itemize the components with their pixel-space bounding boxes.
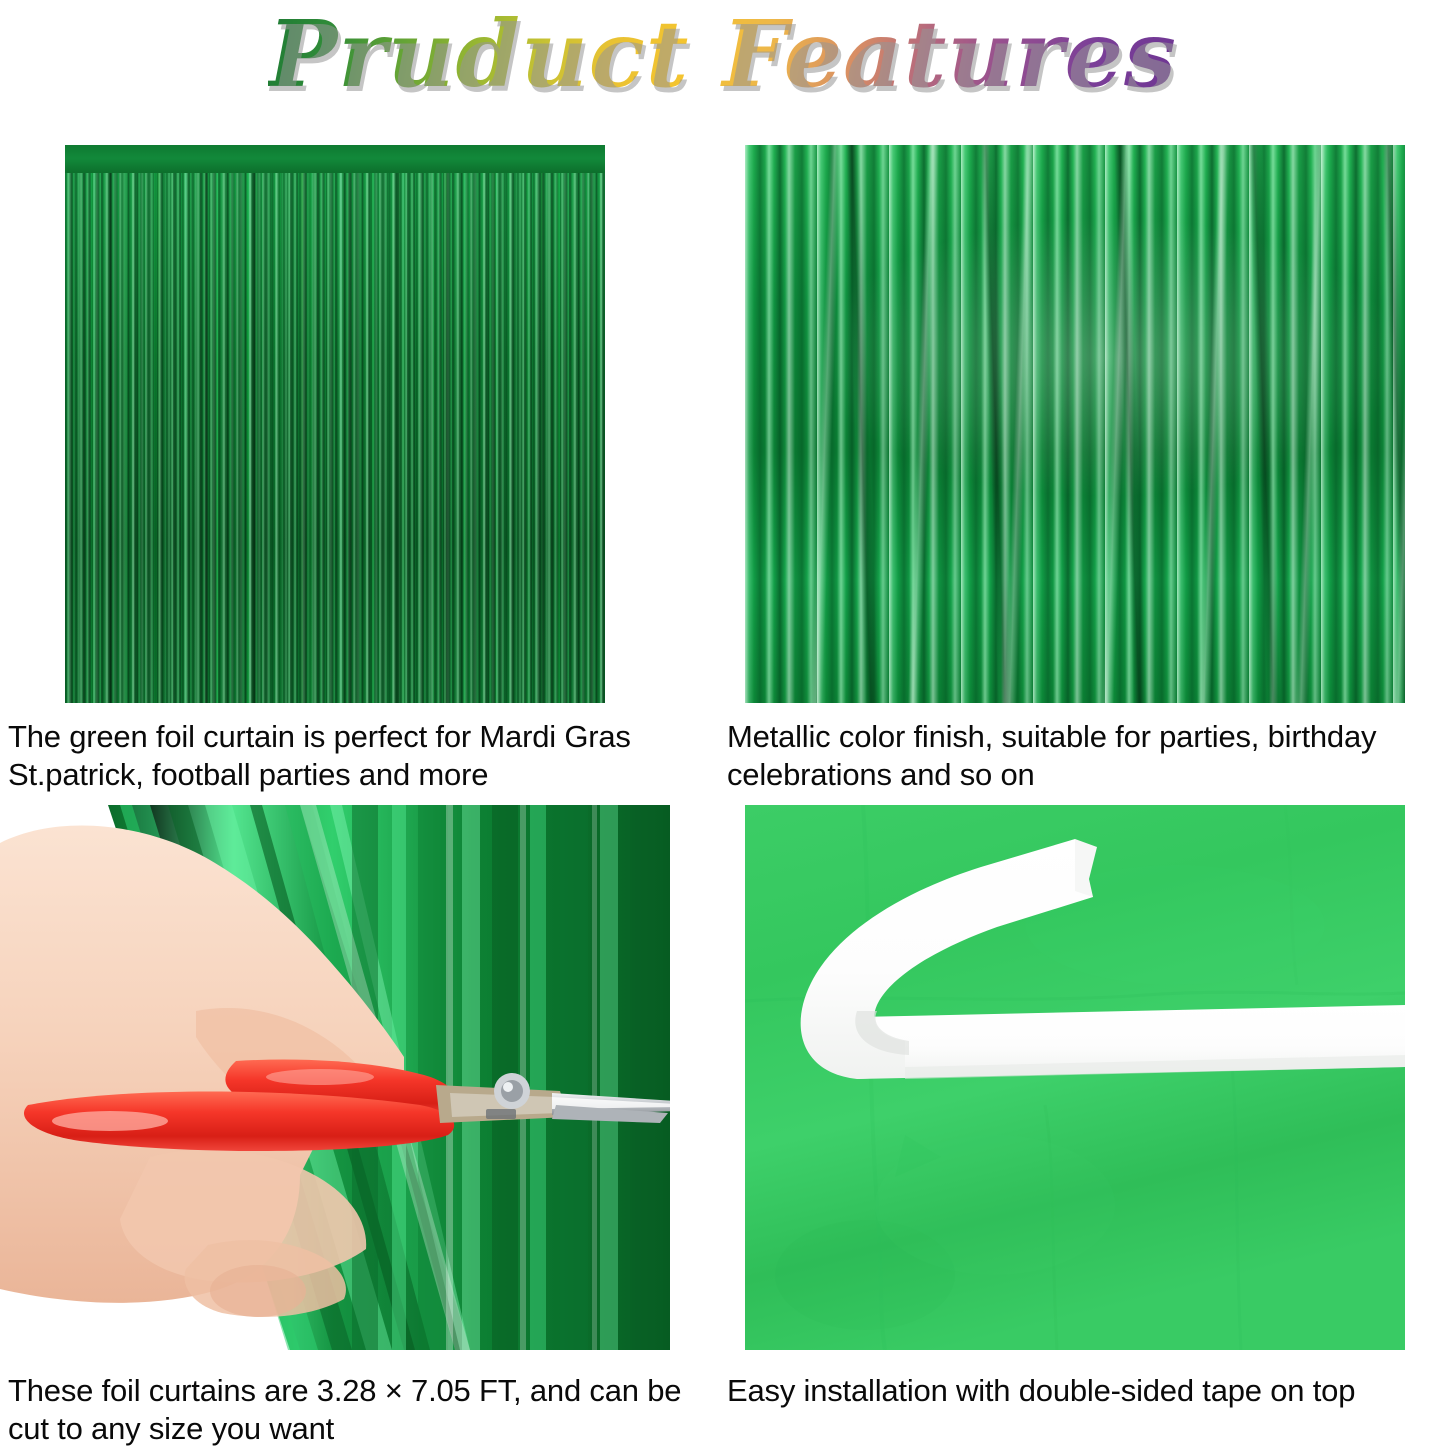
page-title-container: Pruduct Features: [0, 4, 1445, 110]
tape-scene-illustration: [745, 805, 1405, 1350]
page-title: Pruduct Features: [268, 4, 1177, 104]
image-panel-foil-curtain-closeup: [745, 145, 1405, 703]
curtain-fringe-strands: [65, 173, 605, 703]
caption-foil-curtain-closeup: Metallic color finish, suitable for part…: [727, 718, 1439, 794]
image-panel-scissors-cutting: [0, 805, 670, 1350]
curtain-header-band: [65, 145, 605, 175]
caption-scissors-cutting: These foil curtains are 3.28 × 7.05 FT, …: [8, 1372, 698, 1448]
product-features-infographic: Pruduct Features: [0, 0, 1445, 1452]
scissors-scene-illustration: [0, 805, 670, 1350]
caption-foil-curtain-full: The green foil curtain is perfect for Ma…: [8, 718, 708, 794]
image-panel-foil-curtain-full: [65, 145, 605, 703]
image-panel-double-sided-tape: [745, 805, 1405, 1350]
caption-double-sided-tape: Easy installation with double-sided tape…: [727, 1372, 1442, 1410]
metallic-strand-texture: [745, 145, 1405, 703]
